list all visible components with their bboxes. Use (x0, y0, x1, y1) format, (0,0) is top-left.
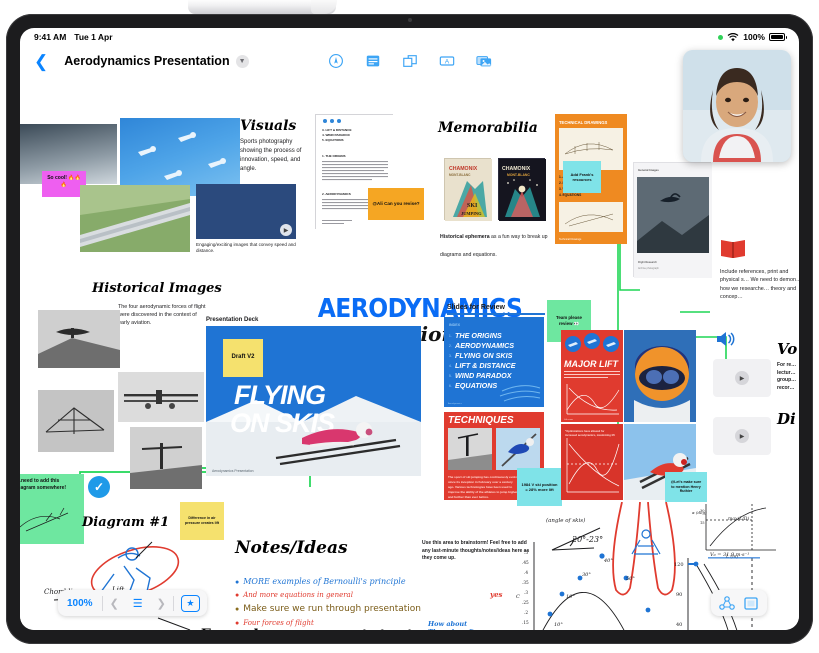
svg-text:WIND PARADOX: WIND PARADOX (455, 371, 513, 380)
memorabilia-caption-bold: Historical ephemera (440, 234, 490, 240)
svg-text:AERODYNAMICS: AERODYNAMICS (454, 341, 514, 350)
svg-text:50°: 50° (626, 576, 635, 582)
svg-text:4.: 4. (449, 364, 452, 368)
svg-text:30: 30 (700, 509, 705, 513)
svg-text:since its inception in Februar: since its inception in February over a c… (448, 480, 513, 484)
svg-text:TECHNICAL DRAWINGS: TECHNICAL DRAWINGS (559, 120, 608, 125)
notes-heading: Notes/Ideas (235, 538, 348, 558)
svg-text:5. EQUATIONS: 5. EQUATIONS (322, 138, 344, 142)
annotation-thursday: How about Thursday after class? (428, 620, 498, 630)
audio-player-1[interactable]: ▶ (713, 359, 771, 397)
shapes-tool[interactable] (400, 53, 419, 69)
svg-text:ago. Various technologies have: ago. Various technologies have been used… (448, 485, 512, 489)
svg-text:INDEX: INDEX (449, 323, 461, 327)
page-list-button[interactable]: ☰ (126, 597, 150, 610)
apple-pencil (188, 0, 336, 14)
back-button[interactable]: ❮ (34, 53, 48, 70)
media-tool[interactable] (474, 53, 493, 69)
notes-bullet-2: Make sure we run through presentation (243, 604, 421, 614)
svg-text:TECHNIQUES: TECHNIQUES (448, 415, 514, 426)
memorabilia-heading: Memorabilia (438, 120, 538, 136)
markup-pen-tool[interactable] (326, 53, 345, 69)
svg-text:10°: 10° (554, 622, 563, 628)
photo-skier-portrait[interactable] (624, 330, 696, 422)
svg-text:(angle of skis): (angle of skis) (546, 517, 585, 524)
svg-text:1. THE ORIGINS: 1. THE ORIGINS (322, 154, 346, 158)
navigation-bar: ❮ Aerodynamics Presentation ▼ (20, 46, 799, 76)
svg-text:40: 40 (676, 622, 682, 628)
card-major-lift[interactable]: MAJOR LIFT Lift curve (561, 330, 623, 422)
ipad-device: 9:41 AM Tue 1 Apr 100% ❮ Aerodynamics Pr… (6, 14, 813, 644)
status-date: Tue 1 Apr (74, 32, 112, 42)
svg-text:15: 15 (700, 521, 705, 525)
svg-text:.5: .5 (524, 550, 528, 555)
connected-nodes-icon[interactable] (717, 594, 737, 612)
presentation-deck-label: Presentation Deck (206, 316, 258, 324)
notes-bullet-3: Four forces of flight (243, 619, 314, 627)
slide-index-card[interactable]: INDEX THE ORIGINS AERODYNAMICS FLYING ON… (444, 317, 544, 407)
svg-text:improve the ability of the ath: improve the ability of the athletes to j… (448, 490, 518, 494)
text-box-tool[interactable]: A (437, 53, 456, 69)
svg-text:.4: .4 (524, 570, 528, 575)
wifi-icon (727, 33, 739, 42)
zoom-toolbar: 100% ❮ ☰ ❯ ★ (58, 590, 207, 616)
front-camera (408, 18, 412, 22)
svg-text:and further than ever before.: and further than ever before. (448, 495, 489, 499)
svg-text:General Images: General Images (638, 168, 659, 172)
status-bar: 9:41 AM Tue 1 Apr 100% (20, 28, 799, 46)
poster-chamonix-1[interactable]: CHAMONIX MONT-BLANC SKI JUMPING (444, 158, 491, 220)
notes-bullet-0: MORE examples of Bernoulli's principle (243, 577, 405, 586)
play-icon[interactable]: ▶ (735, 429, 749, 443)
svg-text:FLYING: FLYING (234, 380, 326, 410)
svg-text:.15: .15 (522, 620, 529, 625)
photo-caption-engaging: Engaging/exciting images that convey spe… (196, 242, 296, 254)
photo-historical-4[interactable] (130, 427, 202, 489)
notes-bullet-1: And more equations in general (243, 591, 353, 599)
svg-text:10°: 10° (566, 594, 575, 600)
photo-historical-1[interactable] (38, 310, 120, 368)
markup-toolbar: A (326, 53, 493, 69)
photo-ski-ramp[interactable] (80, 185, 190, 252)
svg-text:.25: .25 (522, 600, 529, 605)
historical-images-heading: Historical Images (92, 281, 222, 296)
svg-text:max(L/D): max(L/D) (728, 515, 749, 522)
play-badge[interactable]: ▶ (280, 224, 292, 236)
divider (173, 596, 174, 611)
svg-text:Archive photograph: Archive photograph (638, 267, 659, 270)
svg-text:Flight Research: Flight Research (638, 260, 657, 264)
svg-text:THE ORIGINS: THE ORIGINS (455, 331, 502, 340)
play-icon[interactable]: ▶ (735, 371, 749, 385)
photo-bird-glider[interactable]: General Images Flight Research Archive p… (633, 162, 711, 277)
svg-text:LIFT & DISTANCE: LIFT & DISTANCE (455, 361, 516, 370)
svg-text:Technical Drawings: Technical Drawings (559, 237, 582, 241)
svg-text:SKI: SKI (467, 203, 478, 209)
svg-text:Aerodynamics Presentation: Aerodynamics Presentation (212, 469, 254, 473)
selection-square-icon[interactable] (741, 594, 761, 612)
references-body: Include references, print and physical s… (720, 268, 799, 302)
svg-text:C: C (516, 594, 520, 600)
svg-text:4. EQUATIONS: 4. EQUATIONS (559, 193, 581, 197)
green-privacy-dot (718, 35, 723, 40)
prev-page-button[interactable]: ❮ (103, 597, 126, 610)
slides-underline (447, 313, 545, 315)
svg-text:3.: 3. (449, 354, 452, 358)
svg-text:.45: .45 (522, 560, 529, 565)
chevron-down-icon[interactable]: ▼ (236, 55, 249, 68)
example-label: Example: (200, 627, 272, 630)
voice-heading: Vo (777, 340, 797, 358)
svg-text:1.: 1. (449, 334, 452, 338)
svg-text:6.: 6. (449, 384, 452, 388)
visuals-body: Sports photography showing the process o… (240, 138, 310, 174)
audio-player-2[interactable]: ▶ (713, 417, 771, 455)
svg-text:MAJOR LIFT: MAJOR LIFT (564, 359, 619, 369)
annotation-yes: yes (490, 590, 502, 599)
sticky-add-parents[interactable]: Add Frank's resources (563, 161, 601, 193)
svg-text:20°-23°: 20°-23° (571, 535, 603, 544)
svg-text:5.: 5. (449, 374, 452, 378)
battery-percent: 100% (743, 32, 765, 42)
next-page-button[interactable]: ❯ (150, 597, 173, 610)
canvas-tools (711, 590, 767, 616)
svg-text:30°: 30° (582, 572, 591, 578)
speaker-icon (715, 330, 737, 348)
book-icon (720, 237, 746, 259)
svg-text:120: 120 (674, 562, 684, 568)
svg-text:CHAMONIX: CHAMONIX (449, 166, 478, 172)
svg-text:MONT-BLANC: MONT-BLANC (507, 173, 530, 177)
svg-text:MONT-BLANC: MONT-BLANC (449, 173, 471, 177)
sticky-draft-v2[interactable]: Draft V2 (223, 339, 263, 377)
poster-chamonix-2[interactable]: CHAMONIX MONT-BLANC (498, 158, 545, 220)
svg-text:FLYING ON SKIS: FLYING ON SKIS (455, 351, 513, 360)
svg-text:increased aerodynamics, maximi: increased aerodynamics, maximizing lift (565, 433, 615, 437)
zoom-level[interactable]: 100% (58, 598, 102, 609)
svg-text:JUMPING: JUMPING (461, 211, 482, 216)
historical-images-body: The four aerodynamic forces of flight we… (118, 303, 206, 327)
di-heading: Di (777, 410, 796, 428)
svg-text:Aerodynamics: Aerodynamics (448, 402, 463, 405)
slides-for-review-label: Slides for Review (447, 303, 505, 312)
angle-of-attack-label: Angle of attack (345, 628, 413, 630)
visuals-heading: Visuals (240, 118, 310, 134)
sticky-note-tool[interactable] (363, 53, 382, 69)
svg-text:CHAMONIX: CHAMONIX (502, 166, 531, 172)
svg-text:A: A (444, 59, 449, 66)
svg-text:2.: 2. (449, 344, 452, 348)
svg-text:40°: 40° (603, 558, 613, 564)
svg-text:Lift curve: Lift curve (564, 418, 574, 421)
whiteboard-canvas[interactable]: Visuals Sports photography showing the p… (20, 72, 799, 630)
card-skier-red[interactable]: "Optimizations have allowed for increase… (561, 424, 623, 500)
favorite-button[interactable]: ★ (181, 595, 200, 612)
svg-text:"Optimizations have allowed fo: "Optimizations have allowed for (565, 429, 604, 433)
ipad-screen: 9:41 AM Tue 1 Apr 100% ❮ Aerodynamics Pr… (20, 28, 799, 630)
sticky-not-sure-name[interactable]: @Let's make sure to mention Henry Ruthie… (665, 472, 707, 502)
sticky-ali-revise[interactable]: @Ali Can you revise? (368, 188, 424, 220)
document-title: Aerodynamics Presentation (64, 54, 229, 68)
svg-text:EQUATIONS: EQUATIONS (455, 381, 497, 390)
svg-text:2. AERODYNAMICS: 2. AERODYNAMICS (322, 192, 351, 196)
approved-check-badge: ✓ (88, 476, 110, 498)
svg-text:3. LIFT & DISTANCE: 3. LIFT & DISTANCE (322, 128, 352, 132)
battery-icon (769, 33, 785, 41)
svg-text:.2: .2 (524, 610, 528, 615)
voice-body: For re… lectur… group… recor… (777, 362, 799, 392)
sticky-1984-v-position[interactable]: 1984 V ski position = 28% more lift (517, 468, 562, 506)
photo-historical-2[interactable] (118, 372, 204, 422)
status-time: 9:41 AM (34, 32, 66, 42)
diagram1-heading: Diagram #1 (82, 515, 169, 530)
svg-text:The sport of ski jumping has c: The sport of ski jumping has continuousl… (448, 475, 521, 479)
svg-text:.3: .3 (524, 590, 528, 595)
photo-historical-3[interactable] (38, 390, 114, 452)
svg-text:4. WIND PARADOX: 4. WIND PARADOX (322, 133, 351, 137)
svg-text:.35: .35 (522, 580, 529, 585)
svg-text:90: 90 (676, 592, 682, 598)
